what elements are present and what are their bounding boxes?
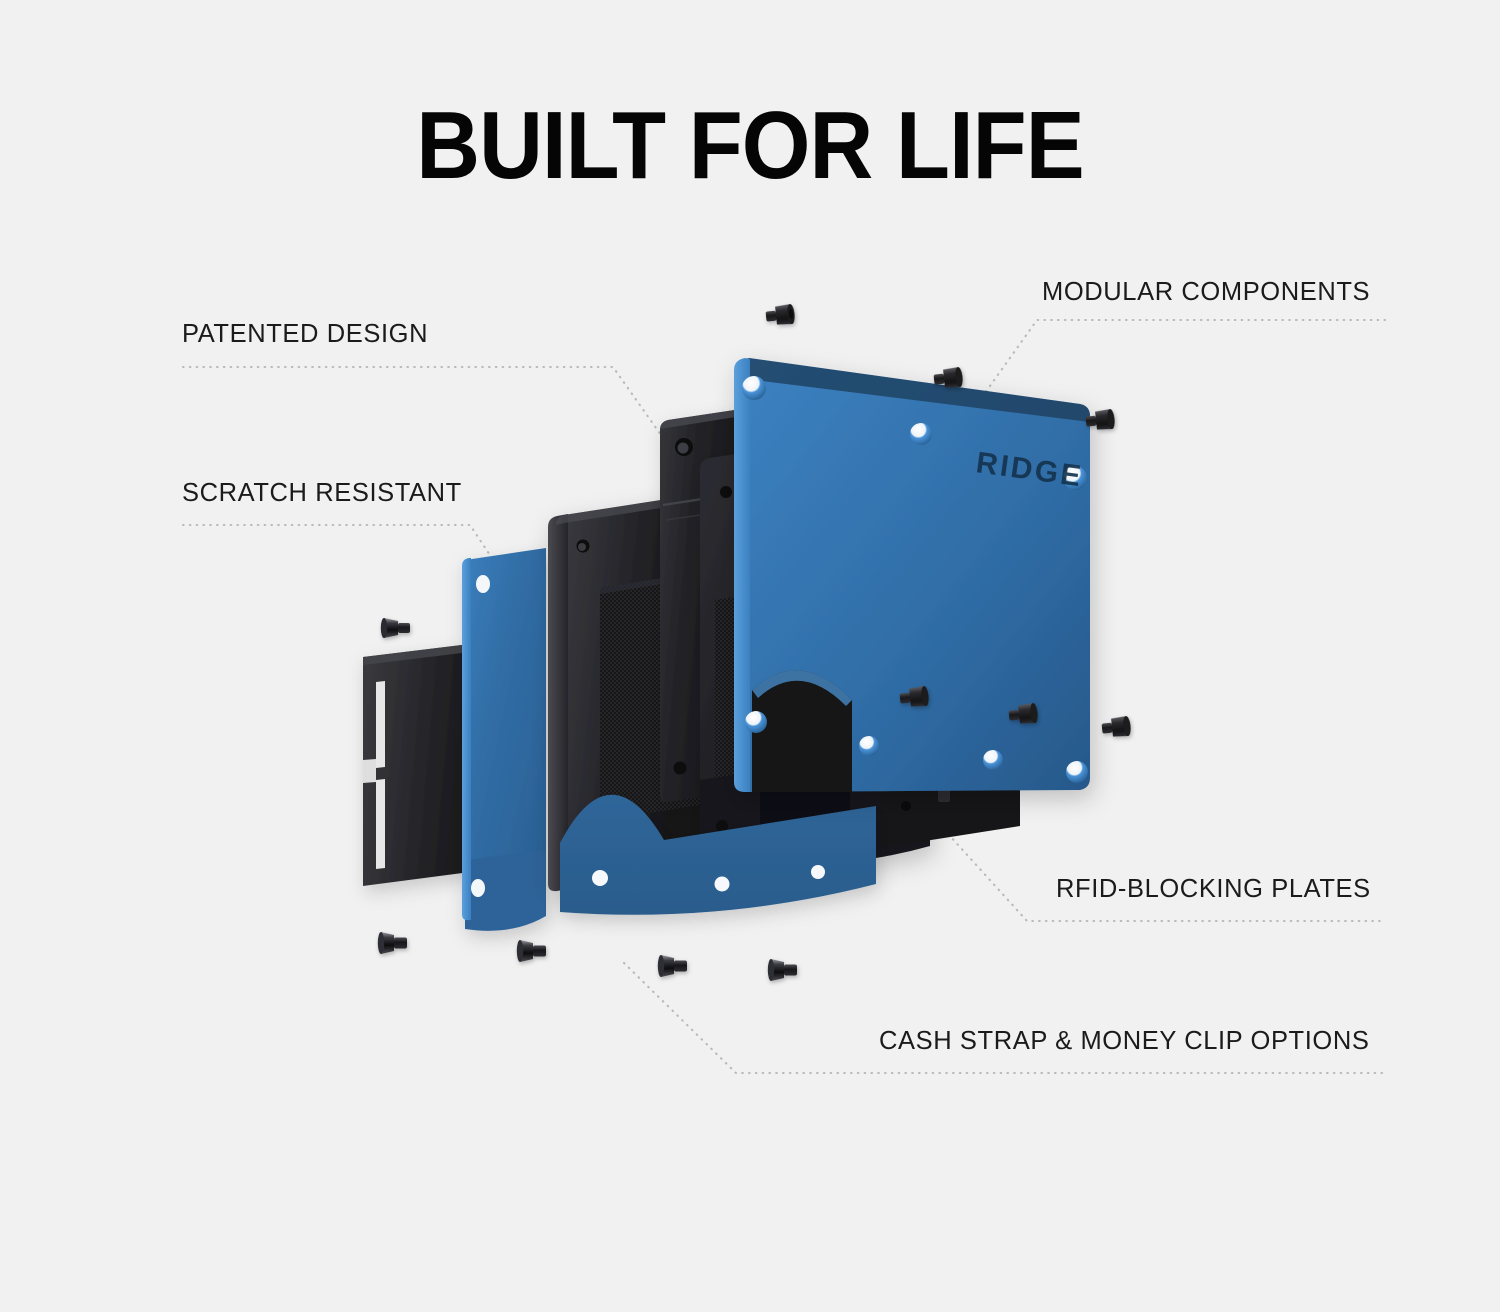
leader-line-patented-design (183, 367, 697, 486)
component-blue-front-plate: RIDGE (734, 358, 1090, 792)
screw-left-1 (381, 618, 410, 638)
component-blue-backing-plate (462, 548, 546, 931)
product-exploded-view: RIDGE (0, 0, 1500, 1312)
screw-bottom-3 (658, 955, 687, 977)
screw-bottom-2 (517, 940, 546, 962)
screw-bottom-1 (378, 932, 407, 954)
leader-line-cash-strap-money-clip (624, 963, 1385, 1073)
component-money-clip (363, 644, 470, 886)
screw-top-1 (765, 304, 796, 327)
screw-bottom-4 (768, 959, 797, 981)
screw-mid-3 (1101, 716, 1132, 739)
infographic-canvas: BUILT FOR LIFE MODULAR COMPONENTS PATENT… (0, 0, 1500, 1312)
